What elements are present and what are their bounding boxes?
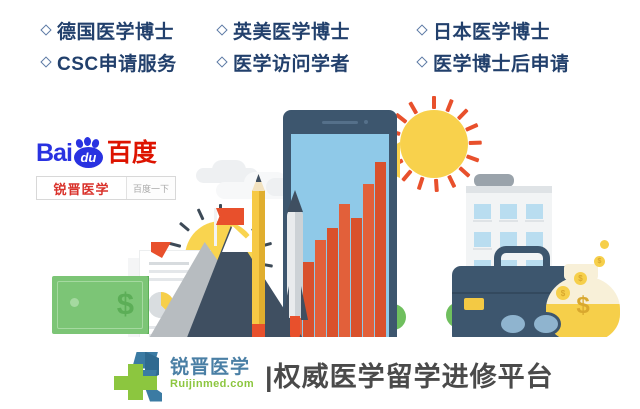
- glasses-bridge: [527, 319, 533, 322]
- headline-label: 德国医学博士: [57, 17, 174, 44]
- brand-lockup: 锐晋医学 Ruijinmed.com: [170, 358, 254, 391]
- diamond-bullet-icon: [40, 56, 51, 67]
- baidu-logo-du: du: [73, 148, 104, 167]
- diamond-bullet-icon: [416, 56, 427, 67]
- brand-name-cn: 锐晋医学: [170, 358, 254, 378]
- banknote-icon: $: [52, 276, 148, 334]
- headline-list: 德国医学博士 英美医学博士 日本医学博士 CSC申请服务 医学访问学者: [0, 14, 640, 86]
- headline-label: 医学访问学者: [233, 49, 350, 76]
- headline-row-2: CSC申请服务 医学访问学者 医学博士后申请: [0, 46, 640, 78]
- headline-item-csc[interactable]: CSC申请服务: [0, 49, 218, 76]
- tablet-camera: [364, 120, 368, 124]
- headline-label: 日本医学博士: [433, 17, 550, 44]
- headline-label: CSC申请服务: [57, 49, 177, 76]
- coin-icon: $: [594, 256, 605, 267]
- cloud-icon: [212, 160, 246, 180]
- logo-cross-horizontal: [114, 376, 157, 390]
- headline-item-visiting-scholar[interactable]: 医学访问学者: [218, 49, 418, 76]
- diamond-bullet-icon: [216, 56, 227, 67]
- glasses-right-lens: [531, 312, 561, 336]
- tablet-speaker: [322, 121, 358, 124]
- flag-pole: [214, 208, 217, 246]
- glasses-left-lens: [498, 312, 528, 336]
- dollar-symbol: $: [117, 284, 134, 324]
- banknote-seal: [70, 298, 79, 307]
- flag-icon: [216, 208, 244, 225]
- coin-icon: $: [574, 272, 587, 285]
- footer-bar: 锐晋医学 Ruijinmed.com |权威医学留学进修平台: [0, 340, 640, 409]
- headline-item-postdoc[interactable]: 医学博士后申请: [418, 49, 618, 76]
- footer-tagline: |权威医学留学进修平台: [265, 355, 554, 394]
- headline-item-jp-md[interactable]: 日本医学博士: [418, 17, 618, 44]
- promo-banner: 德国医学博士 英美医学博士 日本医学博士 CSC申请服务 医学访问学者: [0, 0, 640, 409]
- headline-item-de-md[interactable]: 德国医学博士: [0, 17, 218, 44]
- money-bag-icon: $: [546, 276, 620, 342]
- brand-domain: Ruijinmed.com: [170, 378, 254, 391]
- headline-item-uk-us-md[interactable]: 英美医学博士: [218, 17, 418, 44]
- coin-icon: [600, 240, 609, 249]
- headline-label: 医学博士后申请: [433, 49, 570, 76]
- rocket-icon: [284, 190, 306, 340]
- ruijinmed-logo-icon[interactable]: [112, 350, 166, 400]
- headline-label: 英美医学博士: [233, 17, 350, 44]
- coin-icon: $: [556, 286, 570, 300]
- headline-row-1: 德国医学博士 英美医学博士 日本医学博士: [0, 14, 640, 46]
- pencil-icon: [252, 174, 265, 340]
- diamond-bullet-icon: [216, 24, 227, 35]
- illustration: $ $ $ $ $: [0, 86, 640, 340]
- diamond-bullet-icon: [40, 24, 51, 35]
- sun-icon: [386, 96, 482, 192]
- briefcase-latch: [464, 298, 484, 310]
- diamond-bullet-icon: [416, 24, 427, 35]
